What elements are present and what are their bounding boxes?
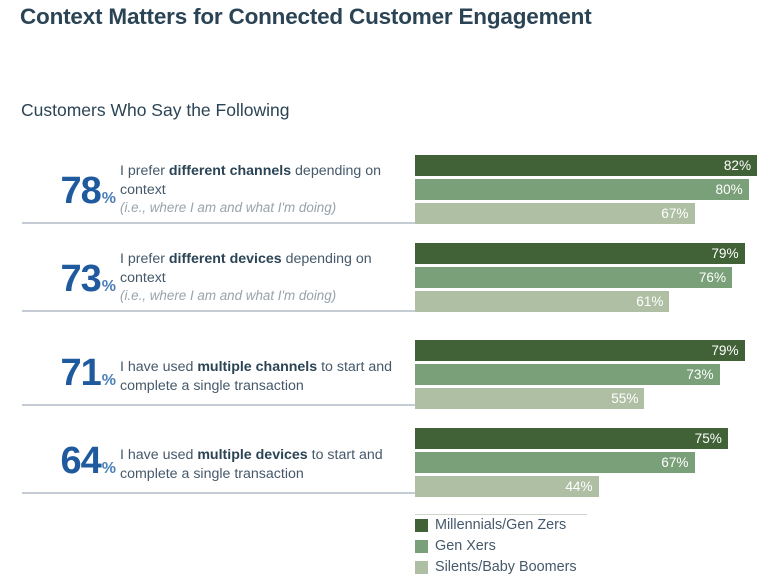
bar-value-label: 79% (711, 247, 744, 261)
bar-value-label: 44% (565, 480, 598, 494)
statement-text: I prefer different channels depending on… (120, 162, 410, 217)
statement-lead: I prefer (120, 163, 169, 179)
bar-gen-xers: 76% (415, 267, 732, 288)
statement-lead: I have used (120, 447, 197, 463)
bar-value-label: 75% (695, 432, 728, 446)
legend-divider (415, 514, 587, 515)
legend-label: Silents/Baby Boomers (435, 560, 577, 574)
statement-subtext: (i.e., where I am and what I'm doing) (120, 287, 410, 305)
statement-highlight: multiple channels (197, 359, 317, 375)
stat-headline: 78% (28, 170, 116, 213)
stat-percent-sign: % (102, 372, 116, 389)
legend-item: Silents/Baby Boomers (415, 558, 595, 577)
legend-swatch-icon (415, 519, 428, 532)
stat-percent-sign: % (102, 460, 116, 477)
legend-item: Gen Xers (415, 537, 595, 556)
bar-millennials-gen-zers: 79% (415, 243, 745, 264)
bar-value-label: 55% (611, 392, 644, 406)
bar-value-label: 82% (724, 159, 757, 173)
bar-gen-xers: 73% (415, 364, 720, 385)
bar-millennials-gen-zers: 82% (415, 155, 757, 176)
legend-swatch-icon (415, 561, 428, 574)
statement-highlight: different devices (169, 251, 282, 267)
chart-legend: Millennials/Gen ZersGen XersSilents/Baby… (415, 516, 595, 579)
legend-item: Millennials/Gen Zers (415, 516, 595, 535)
section-subtitle: Customers Who Say the Following (21, 100, 289, 121)
bar-silents-baby-boomers: 44% (415, 476, 599, 497)
statement-lead: I have used (120, 359, 197, 375)
page-title: Context Matters for Connected Customer E… (20, 4, 592, 30)
bar-millennials-gen-zers: 75% (415, 428, 728, 449)
stat-headline: 73% (28, 258, 116, 301)
stat-headline: 71% (28, 352, 116, 395)
bar-gen-xers: 67% (415, 452, 695, 473)
statement-text: I prefer different devices depending on … (120, 250, 410, 305)
bar-millennials-gen-zers: 79% (415, 340, 745, 361)
bar-value-label: 76% (699, 271, 732, 285)
group-divider (22, 222, 415, 224)
statement-subtext: (i.e., where I am and what I'm doing) (120, 199, 410, 217)
legend-label: Gen Xers (435, 539, 496, 553)
bar-value-label: 79% (711, 344, 744, 358)
stat-number: 64 (60, 440, 100, 482)
statement-lead: I prefer (120, 251, 169, 267)
legend-swatch-icon (415, 540, 428, 553)
bar-value-label: 67% (661, 456, 694, 470)
bar-value-label: 73% (686, 368, 719, 382)
stat-number: 71 (60, 352, 100, 394)
group-divider (22, 404, 415, 406)
legend-label: Millennials/Gen Zers (435, 518, 566, 532)
stat-number: 73 (60, 258, 100, 300)
statement-highlight: different channels (169, 163, 291, 179)
bar-silents-baby-boomers: 55% (415, 388, 644, 409)
bar-silents-baby-boomers: 67% (415, 203, 695, 224)
statement-text: I have used multiple devices to start an… (120, 446, 410, 483)
stat-number: 78 (60, 170, 100, 212)
stat-percent-sign: % (102, 190, 116, 207)
stat-headline: 64% (28, 440, 116, 483)
group-divider (22, 492, 415, 494)
stat-percent-sign: % (102, 278, 116, 295)
statement-text: I have used multiple channels to start a… (120, 358, 410, 395)
bar-silents-baby-boomers: 61% (415, 291, 669, 312)
bar-gen-xers: 80% (415, 179, 749, 200)
group-divider (22, 310, 415, 312)
bar-value-label: 67% (661, 207, 694, 221)
statement-highlight: multiple devices (197, 447, 307, 463)
bar-value-label: 80% (716, 183, 749, 197)
bar-value-label: 61% (636, 295, 669, 309)
